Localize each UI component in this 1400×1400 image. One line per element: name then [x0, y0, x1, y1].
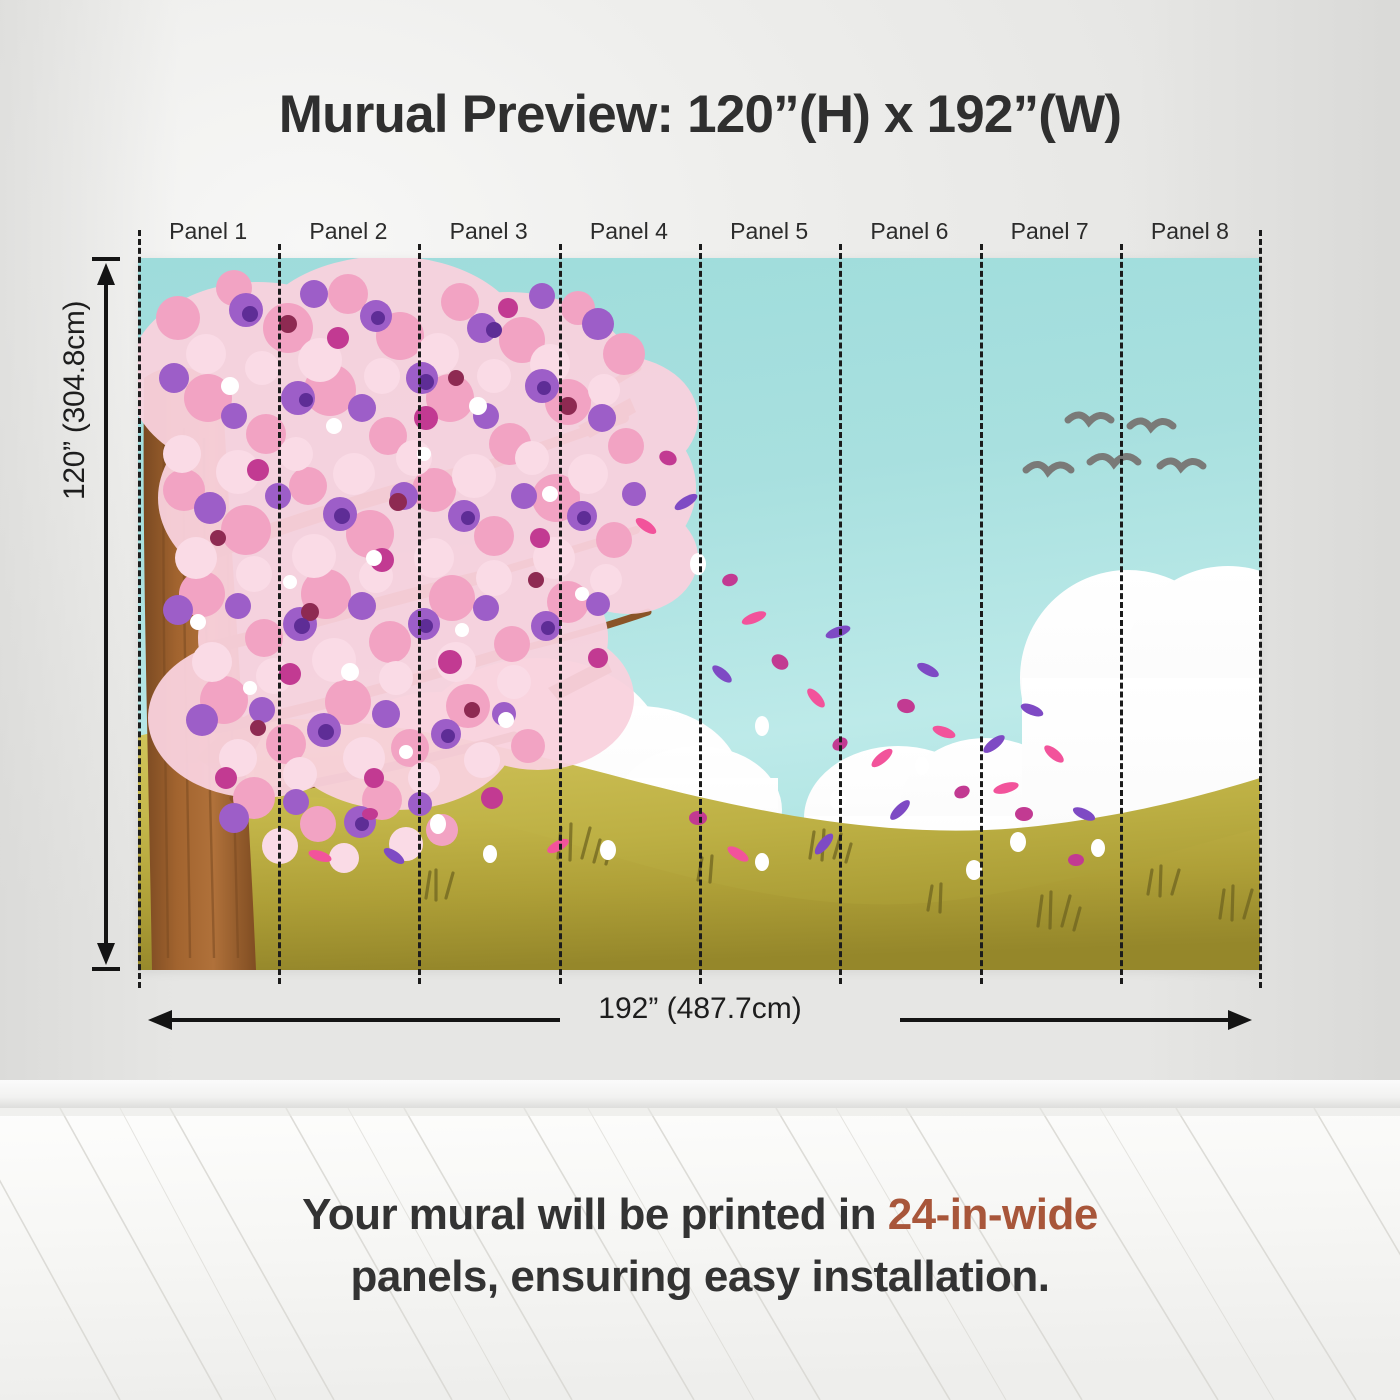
caption-accent: 24-in-wide [888, 1190, 1098, 1239]
panel-label-3: Panel 3 [419, 214, 559, 248]
panel-label-6: Panel 6 [839, 214, 979, 248]
panel-label-4: Panel 4 [559, 214, 699, 248]
caption-line1-pre: Your mural will be printed in [302, 1190, 888, 1239]
baseboard [0, 1080, 1400, 1108]
mural-artwork [138, 258, 1260, 970]
panel-label-7: Panel 7 [980, 214, 1120, 248]
height-dimension-arrow [86, 255, 126, 973]
panel-label-2: Panel 2 [278, 214, 418, 248]
height-dimension-label: 120” (304.8cm) [58, 301, 92, 500]
panel-label-1: Panel 1 [138, 214, 278, 248]
page-title: Murual Preview: 120”(H) x 192”(W) [0, 84, 1400, 145]
mural-edge-right [1259, 230, 1262, 988]
panel-label-8: Panel 8 [1120, 214, 1260, 248]
mural-edge-left [138, 230, 141, 988]
caption-line2: panels, ensuring easy installation. [0, 1246, 1400, 1308]
panel-label-row: Panel 1 Panel 2 Panel 3 Panel 4 Panel 5 … [138, 214, 1260, 248]
panel-label-5: Panel 5 [699, 214, 839, 248]
caption: Your mural will be printed in 24-in-wide… [0, 1184, 1400, 1308]
mural-preview-screen: Murual Preview: 120”(H) x 192”(W) Panel … [0, 0, 1400, 1400]
width-dimension-label: 192” (487.7cm) [0, 992, 1400, 1026]
